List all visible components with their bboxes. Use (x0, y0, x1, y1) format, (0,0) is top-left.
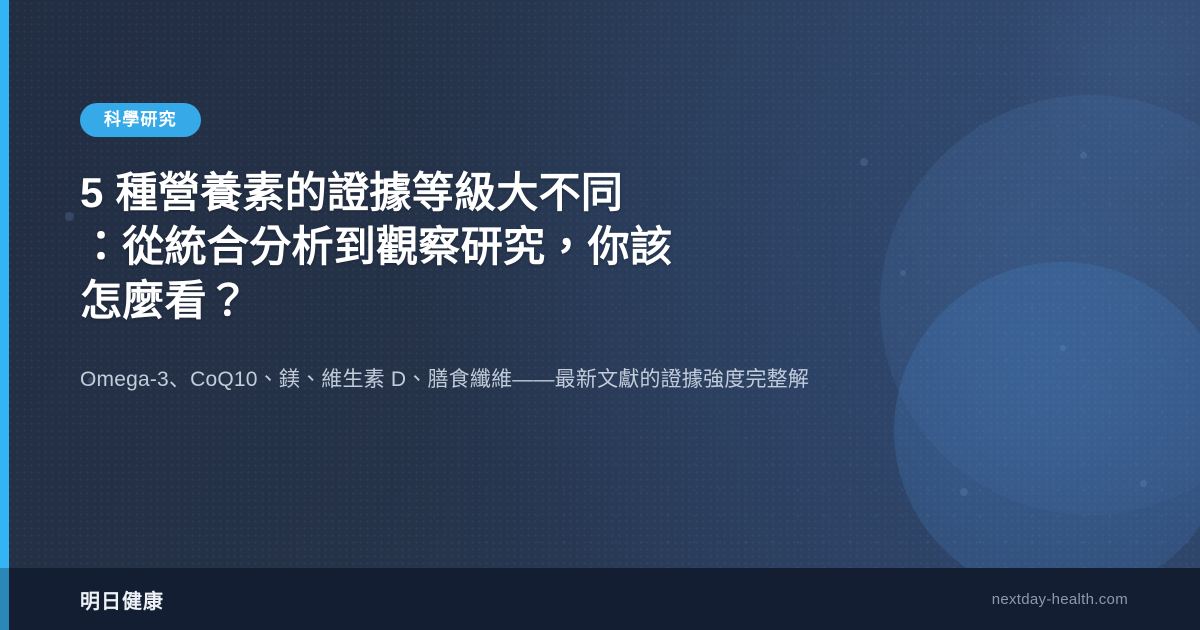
speck-dot (1080, 152, 1087, 159)
footer-inner: 明日健康 nextday-health.com (0, 568, 1200, 630)
speck-dot (1140, 480, 1147, 487)
site-domain: nextday-health.com (992, 591, 1128, 608)
page-subtitle: Omega-3、CoQ10、鎂、維生素 D、膳食纖維——最新文獻的證據強度完整解 (80, 364, 960, 396)
left-accent-bar-footer-segment (0, 568, 9, 630)
page-title: 5 種營養素的證據等級大不同 ：從統合分析到觀察研究，你該 怎麼看？ (80, 166, 800, 328)
speck-dot (960, 488, 968, 496)
left-accent-bar (0, 0, 9, 630)
card-footer: 明日健康 nextday-health.com (0, 568, 1200, 630)
brand-name: 明日健康 (80, 585, 164, 614)
social-share-card: 科學研究 5 種營養素的證據等級大不同 ：從統合分析到觀察研究，你該 怎麼看？ … (0, 0, 1200, 630)
card-content: 科學研究 5 種營養素的證據等級大不同 ：從統合分析到觀察研究，你該 怎麼看？ … (80, 0, 1080, 396)
speck-dot (65, 212, 74, 221)
category-badge[interactable]: 科學研究 (80, 103, 201, 137)
